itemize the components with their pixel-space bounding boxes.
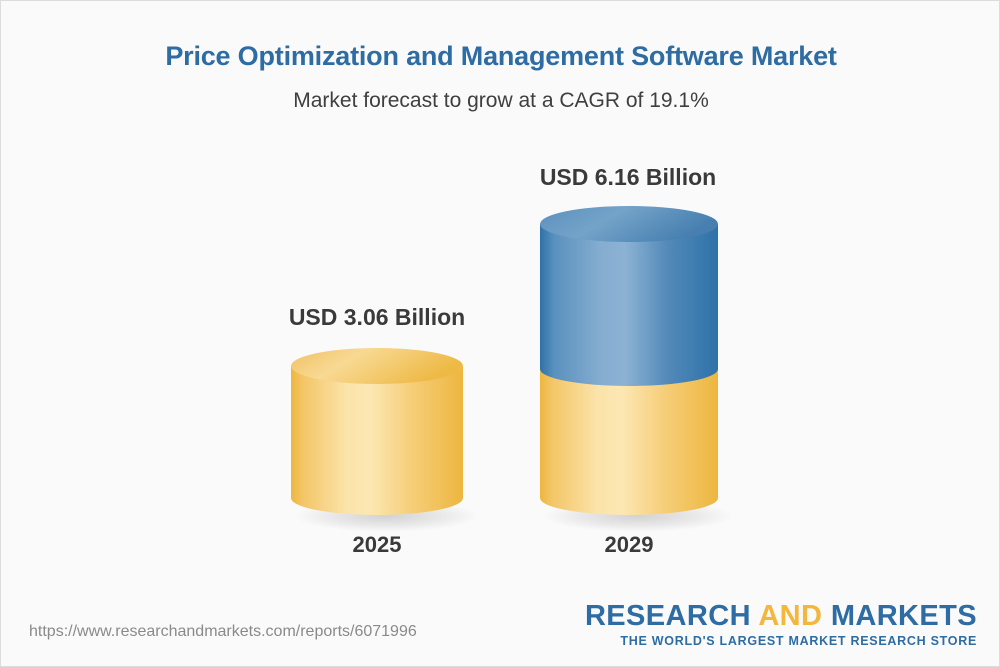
bar-2025-top-cap <box>291 348 463 384</box>
bar-2029-top-cap <box>540 206 718 242</box>
source-url[interactable]: https://www.researchandmarkets.com/repor… <box>29 623 417 641</box>
bar-2029-segment-growth <box>540 224 718 386</box>
bar-2025[interactable] <box>291 348 478 532</box>
bar-2025-body <box>291 366 463 515</box>
category-label-2029: 2029 <box>529 532 729 558</box>
category-label-2025: 2025 <box>277 532 477 558</box>
research-and-markets-logo[interactable]: RESEARCH AND MARKETS THE WORLD'S LARGEST… <box>585 601 977 648</box>
logo-word-markets: MARKETS <box>831 600 977 632</box>
logo-word-research: RESEARCH <box>585 600 751 632</box>
logo-wordmark: RESEARCH AND MARKETS <box>585 601 977 631</box>
bar-2029-segment-base <box>540 369 718 515</box>
chart-plot-area: USD 3.06 Billion USD 6.16 Billion <box>1 1 1000 601</box>
bar-2029[interactable] <box>540 206 733 532</box>
logo-tagline: THE WORLD'S LARGEST MARKET RESEARCH STOR… <box>585 634 977 648</box>
infographic-canvas: Price Optimization and Management Softwa… <box>0 0 1000 667</box>
cylinder-bars-svg <box>1 1 1000 601</box>
logo-word-and: AND <box>758 600 822 632</box>
